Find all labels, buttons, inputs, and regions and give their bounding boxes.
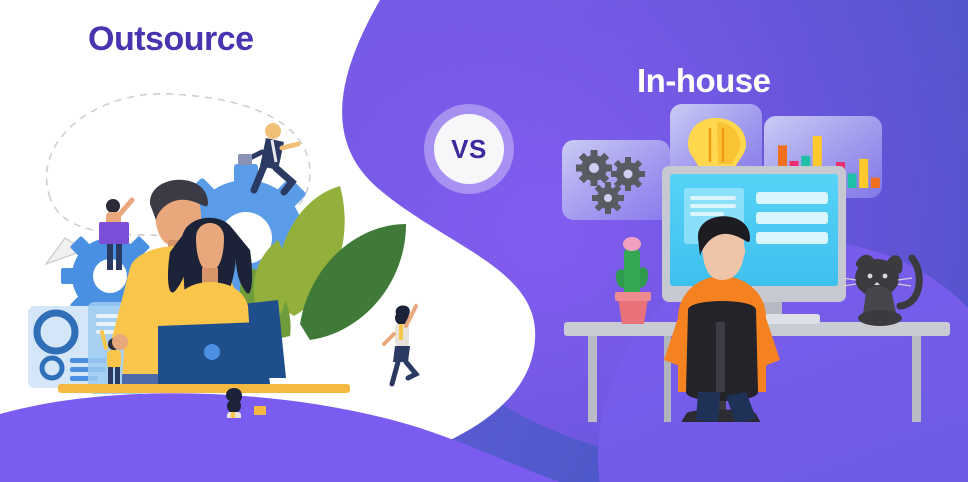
vs-badge-circle: VS: [434, 114, 504, 184]
black-cat: [842, 258, 919, 326]
vs-badge-label: VS: [451, 134, 487, 165]
page-title-inhouse: In-house: [637, 62, 771, 100]
banner-canvas: Outsource In-house VS: [0, 0, 968, 482]
vs-badge: VS: [424, 104, 514, 194]
bar-9: [871, 178, 880, 188]
small-running-man-right: [384, 305, 416, 384]
page-title-outsource: Outsource: [88, 20, 254, 59]
desk-surface: [58, 384, 350, 393]
outsource-illustration: [10, 78, 430, 418]
bar-8: [859, 159, 868, 188]
laptop-woman: [158, 322, 270, 384]
cactus-plant: [615, 237, 651, 324]
inhouse-illustration: [560, 92, 950, 422]
bar-7: [848, 173, 857, 188]
